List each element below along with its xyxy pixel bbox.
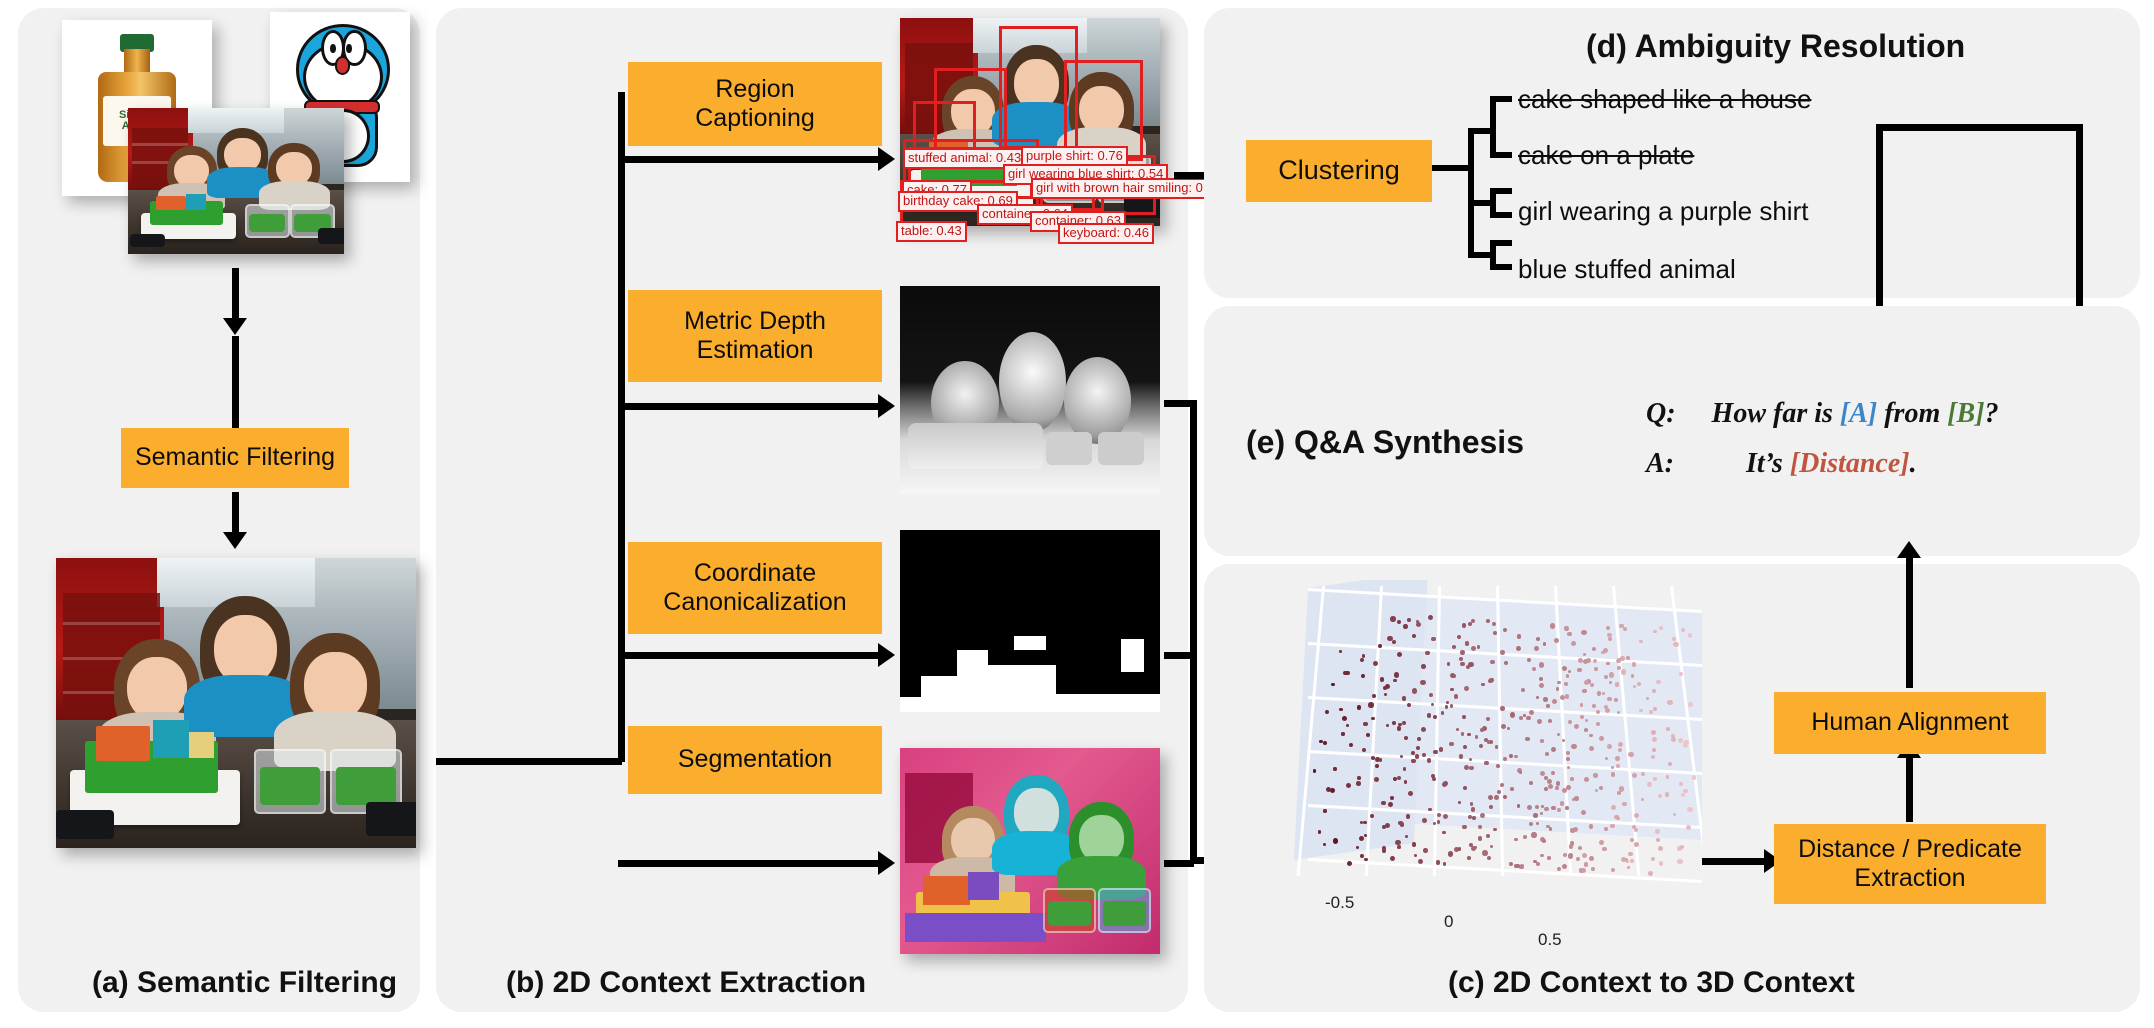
point-cloud-point [1547,856,1551,860]
point-cloud-point [1556,781,1561,786]
point-cloud-point [1443,862,1446,865]
point-cloud-point [1653,630,1657,634]
point-cloud-point [1429,693,1433,697]
point-cloud-point [1463,786,1467,790]
point-cloud-point [1555,786,1559,790]
panel-d-title: (d) Ambiguity Resolution [1586,28,1965,65]
qa-a-end: . [1910,448,1917,479]
point-cloud-point [1651,857,1655,861]
point-cloud-point [1481,683,1484,686]
point-cloud-point [1443,814,1448,819]
metric-depth-line2: Estimation [697,336,814,366]
point-cloud-point [1395,840,1400,845]
point-cloud-point [1433,715,1437,719]
point-cloud-point [1648,871,1653,876]
arrow-alignment-to-qa [1906,556,1913,688]
point-cloud-point [1539,677,1543,681]
qa-question-line: Q: How far is [A] from [B]? [1646,398,1999,430]
detection-label-table: table: 0.43 [896,221,967,242]
point-cloud-point [1605,708,1610,713]
arrow-to-segmentation-image [618,860,880,867]
point-cloud-point [1501,724,1506,729]
point-cloud-point [1574,724,1579,729]
point-cloud-point [1417,737,1421,741]
point-cloud-point [1486,717,1490,721]
point-cloud-point [1385,684,1390,689]
point-cloud-point [1385,823,1390,828]
point-cloud-point [1641,772,1645,776]
point-cloud-point [1465,641,1469,645]
point-cloud-point [1656,680,1661,685]
point-cloud-point [1472,816,1476,820]
arrow-3d-to-extraction [1702,858,1766,865]
panel-a-caption: (a) Semantic Filtering [92,966,397,1000]
region-captioning-line1: Region [715,75,794,105]
point-cloud-point [1362,654,1365,657]
point-cloud-point [1347,861,1352,866]
point-cloud-point [1576,857,1580,861]
point-cloud-point [1480,813,1485,818]
point-cloud-point [1474,846,1477,849]
point-cloud-point [1421,664,1426,669]
point-cloud-point [1372,694,1376,698]
point-cloud-point [1565,806,1569,810]
point-cloud-point [1537,719,1542,724]
arrow-extraction-to-alignment [1906,756,1913,822]
point-cloud-point [1493,828,1497,832]
point-cloud-point [1478,836,1483,841]
qa-tag-distance: [Distance] [1790,448,1910,479]
point-cloud-point [1339,708,1343,712]
point-cloud-point [1368,702,1373,707]
point-cloud-point [1599,786,1603,790]
point-cloud-point [1656,838,1660,842]
point-cloud-point [1460,650,1465,655]
point-cloud-point [1357,776,1361,780]
point-cloud-point [1382,849,1386,853]
point-cloud-point [1677,859,1682,864]
point-cloud-point [1325,710,1329,714]
point-cloud-point [1602,847,1607,852]
point-cloud-point [1589,856,1594,861]
point-cloud-point [1397,652,1402,657]
point-cloud-point [1370,814,1374,818]
arrow-filtering-to-result [232,492,239,534]
point-cloud-point [1387,636,1392,641]
point-cloud-point [1552,699,1557,704]
point-cloud-point [1439,747,1444,752]
point-cloud-point [1392,721,1396,725]
point-cloud-point [1341,732,1344,735]
point-cloud-point [1470,802,1474,806]
point-cloud-point [1529,822,1533,826]
point-cloud-point [1568,720,1572,724]
metric-depth-line1: Metric Depth [684,307,826,337]
axis-tick-neg-half: -0.5 [1325,893,1354,913]
point-cloud-point [1394,672,1399,677]
point-cloud-point [1459,754,1464,759]
point-cloud-point [1582,853,1587,858]
point-cloud-point [1423,848,1428,853]
detection-label-keyboard: keyboard: 0.46 [1058,223,1154,244]
point-cloud-point [1323,741,1327,745]
panel-e-title: (e) Q&A Synthesis [1246,424,1524,461]
region-captioning-line2: Captioning [695,104,815,134]
point-cloud-point [1621,669,1626,674]
point-cloud-point [1546,704,1550,708]
point-cloud-point [1517,634,1522,639]
point-cloud-point [1628,852,1633,857]
qa-a-prefix: A: [1646,448,1674,479]
point-cloud-point [1420,680,1425,685]
point-cloud-point [1566,757,1570,761]
qa-q-part1: How far is [1712,398,1833,429]
point-cloud-point [1500,783,1504,787]
point-cloud-point [1637,682,1641,686]
point-cloud-point [1634,842,1639,847]
point-cloud-point [1539,662,1544,667]
point-cloud-point [1611,772,1616,777]
human-alignment-box[interactable]: Human Alignment [1774,692,2046,754]
point-cloud-point [1454,694,1458,698]
qa-tag-b: [B] [1947,398,1984,429]
point-cloud-point [1679,672,1683,676]
arrow-to-mask-image [618,652,880,659]
point-cloud-point [1520,864,1525,869]
point-cloud-point [1589,824,1594,829]
axis-tick-zero: 0 [1444,912,1453,932]
coord-canon-line1: Coordinate [694,559,816,589]
point-cloud-point [1562,666,1567,671]
point-cloud-point [1467,856,1471,860]
point-cloud-point [1388,802,1393,807]
point-cloud-point [1679,782,1683,786]
point-cloud-point [1437,820,1441,824]
point-cloud-point [1557,808,1561,812]
point-cloud-point [1672,637,1676,641]
point-cloud-point [1402,721,1406,725]
point-cloud-point [1551,747,1556,752]
clustering-box[interactable]: Clustering [1246,140,1432,202]
point-cloud-point [1356,781,1361,786]
point-cloud-point [1548,719,1552,723]
point-cloud-point [1531,832,1536,837]
metric-depth-box[interactable]: Metric Depth Estimation [628,290,882,382]
point-cloud-point [1533,813,1537,817]
point-cloud-point [1667,700,1672,705]
point-cloud-point [1603,648,1608,653]
point-cloud-point [1510,712,1515,717]
point-cloud-point [1418,859,1423,864]
point-cloud-point [1529,781,1533,785]
point-cloud-point [1441,711,1445,715]
region-captioning-box[interactable]: Region Captioning [628,62,882,146]
point-cloud-point [1589,734,1592,737]
point-cloud-point [1462,825,1467,830]
point-cloud-point [1627,866,1630,869]
point-cloud-point [1346,724,1349,727]
point-cloud-point [1574,796,1578,800]
point-cloud-point [1345,671,1349,675]
point-cloud-point [1407,703,1411,707]
point-cloud-point [1564,626,1569,631]
point-cloud-point [1462,623,1467,628]
point-cloud-point [1692,775,1697,780]
qa-q-prefix: Q: [1646,398,1676,429]
arrow-to-detection-image [618,156,880,163]
point-cloud-point [1397,845,1401,849]
semantic-filtering-box[interactable]: Semantic Filtering [121,428,349,488]
point-cloud-point [1615,756,1620,761]
point-cloud-point [1490,845,1493,848]
point-cloud-point [1510,787,1514,791]
point-cloud-point [1390,856,1395,861]
point-cloud-point [1557,867,1561,871]
point-cloud-point [1407,618,1411,622]
point-cloud-point [1487,740,1490,743]
point-cloud-point [1411,759,1416,764]
point-cloud-point [1666,775,1669,778]
point-cloud-point [1428,615,1433,620]
point-cloud-point [1458,847,1462,851]
point-cloud-point [1323,809,1326,812]
point-cloud-point [1412,688,1417,693]
segmentation-box[interactable]: Segmentation [628,726,882,794]
point-cloud-point [1543,697,1548,702]
point-cloud-point [1475,735,1478,738]
point-cloud-point [1536,862,1540,866]
panel-c-caption: (c) 2D Context to 3D Context [1448,966,1855,1000]
point-cloud-point [1416,622,1421,627]
point-cloud-point [1525,737,1530,742]
point-cloud-point [1349,743,1353,747]
point-cloud-point [1570,777,1574,781]
point-cloud-point [1606,662,1610,666]
arrow-scene-to-filtering [232,268,239,320]
point-cloud-point [1589,746,1594,751]
point-cloud-point [1651,755,1655,759]
qa-q-part2: from [1884,398,1940,429]
point-cloud-point [1688,702,1693,707]
point-cloud-point [1333,838,1338,843]
point-cloud-point [1398,821,1403,826]
point-cloud-point [1471,646,1476,651]
point-cloud-point [1539,683,1544,688]
qa-answer-line: A: It’s [Distance]. [1646,448,1917,480]
point-cloud-point [1516,864,1520,868]
point-cloud-point [1566,674,1570,678]
coord-canon-line2: Canonicalization [663,588,846,618]
point-cloud-point [1556,687,1560,691]
point-cloud-point [1469,758,1472,761]
point-cloud-point [1658,846,1663,851]
point-cloud-point [1414,854,1417,857]
panel-b-caption: (b) 2D Context Extraction [506,966,866,1000]
point-cloud-point [1592,704,1596,708]
point-cloud-point [1540,739,1544,743]
point-cloud-point [1592,647,1596,651]
point-cloud-point [1494,795,1499,800]
point-cloud-point [1542,839,1546,843]
point-cloud-point [1551,771,1555,775]
segmentation-result-image [900,748,1160,954]
point-cloud-point [1549,827,1553,831]
point-cloud-point [1493,631,1497,635]
point-cloud-point [1680,845,1684,849]
point-cloud-point [1684,740,1688,744]
point-cloud-point [1540,854,1544,858]
point-cloud-point [1503,757,1507,761]
point-cloud-point [1514,755,1518,759]
point-cloud-point [1478,825,1482,829]
point-cloud-point [1659,861,1663,865]
point-cloud-point [1671,737,1676,742]
point-cloud-point [1425,651,1430,656]
point-cloud-point [1567,632,1571,636]
source-image-scene [128,108,344,254]
metric-depth-map-image [900,286,1160,494]
point-cloud-point [1550,623,1555,628]
point-cloud-point [1609,672,1614,677]
point-cloud-point [1403,767,1406,770]
point-cloud-point [1687,807,1692,812]
qa-tag-a: [A] [1840,398,1877,429]
qa-q-end: ? [1985,398,1999,429]
point-cloud-point [1628,752,1633,757]
point-cloud-point [1357,705,1362,710]
cluster-item-1: cake on a plate [1518,140,1694,171]
point-cloud-point [1529,710,1534,715]
filtered-image-result [56,558,416,848]
coordinate-canonicalization-mask-image [900,530,1160,712]
point-cloud-point [1688,633,1692,637]
point-cloud-point [1535,805,1539,809]
distance-predicate-extraction-box[interactable]: Distance / Predicate Extraction [1774,824,2046,904]
point-cloud-point [1593,773,1598,778]
point-cloud-point [1442,782,1447,787]
point-cloud-point [1583,659,1588,664]
point-cloud-point [1482,850,1487,855]
point-cloud-point [1604,675,1608,679]
point-cloud-point [1403,624,1408,629]
point-cloud-point [1584,862,1589,867]
point-cloud-point [1616,764,1620,768]
point-cloud-point [1477,645,1481,649]
coordinate-canonicalization-box[interactable]: Coordinate Canonicalization [628,542,882,634]
point-cloud-point [1468,622,1472,626]
point-cloud-point [1436,860,1441,865]
distance-predicate-line2: Extraction [1854,864,1965,894]
point-cloud-point [1557,681,1561,685]
point-cloud-point [1412,842,1416,846]
point-cloud-point [1566,785,1571,790]
point-cloud-point [1333,767,1336,770]
point-cloud-point [1571,744,1576,749]
point-cloud-point [1582,689,1587,694]
point-cloud-point [1509,862,1513,866]
point-cloud-point [1466,665,1471,670]
point-cloud-point [1630,859,1634,863]
point-cloud-point [1363,821,1367,825]
point-cloud-point [1611,766,1614,769]
point-cloud-point [1496,764,1500,768]
qa-a-part1: It’s [1746,448,1783,479]
point-cloud-point [1361,674,1365,678]
point-cloud-point [1442,831,1446,835]
point-cloud-point [1548,784,1553,789]
point-cloud-point [1655,829,1660,834]
point-cloud-point [1666,727,1670,731]
point-cloud-point [1428,808,1432,812]
point-cloud-point [1486,834,1490,838]
point-cloud-point [1569,844,1573,848]
point-cloud-point [1596,710,1600,714]
point-cloud-point [1626,860,1629,863]
point-cloud-point [1567,766,1570,769]
point-cloud-point [1591,867,1594,870]
point-cloud-point [1360,854,1364,858]
point-cloud-point [1464,765,1469,770]
point-cloud-point [1536,637,1540,641]
point-cloud-point [1523,835,1527,839]
point-cloud-point [1447,662,1451,666]
point-cloud-point [1602,692,1605,695]
point-cloud-point [1519,716,1523,720]
point-cloud-point [1373,661,1378,666]
point-cloud-plot [1272,580,1702,890]
point-cloud-point [1437,813,1441,817]
point-cloud-point [1565,694,1570,699]
point-cloud-point [1488,679,1493,684]
point-cloud-point [1611,868,1615,872]
point-cloud-point [1543,642,1546,645]
point-cloud-point [1665,792,1670,797]
point-cloud-point [1500,650,1505,655]
point-cloud-point [1634,813,1639,818]
point-cloud-point [1514,838,1518,842]
cluster-item-2: girl wearing a purple shirt [1518,196,1808,227]
cluster-item-0: cake shaped like a house [1518,84,1811,115]
point-cloud-point [1632,662,1637,667]
point-cloud-point [1500,706,1505,711]
point-cloud-point [1448,851,1453,856]
point-cloud-point [1458,801,1461,804]
point-cloud-point [1431,774,1435,778]
point-cloud-point [1607,633,1612,638]
point-cloud-point [1610,824,1615,829]
axis-tick-half: 0.5 [1538,930,1562,950]
point-cloud-point [1652,689,1656,693]
point-cloud-point [1581,630,1586,635]
point-cloud-point [1611,805,1616,810]
point-cloud-point [1562,864,1567,869]
point-cloud-point [1415,754,1419,758]
point-cloud-point [1313,769,1316,772]
point-cloud-point [1487,856,1491,860]
point-cloud-point [1617,791,1621,795]
distance-predicate-line1: Distance / Predicate [1798,835,2022,865]
arrow-to-depth-image [618,403,880,410]
point-cloud-point [1459,657,1463,661]
point-cloud-point [1405,835,1408,838]
point-cloud-point [1452,645,1456,649]
point-cloud-point [1560,801,1564,805]
point-cloud-point [1568,853,1573,858]
point-cloud-point [1607,697,1611,701]
point-cloud-point [1380,677,1385,682]
point-cloud-point [1526,716,1530,720]
point-cloud-point [1545,752,1549,756]
